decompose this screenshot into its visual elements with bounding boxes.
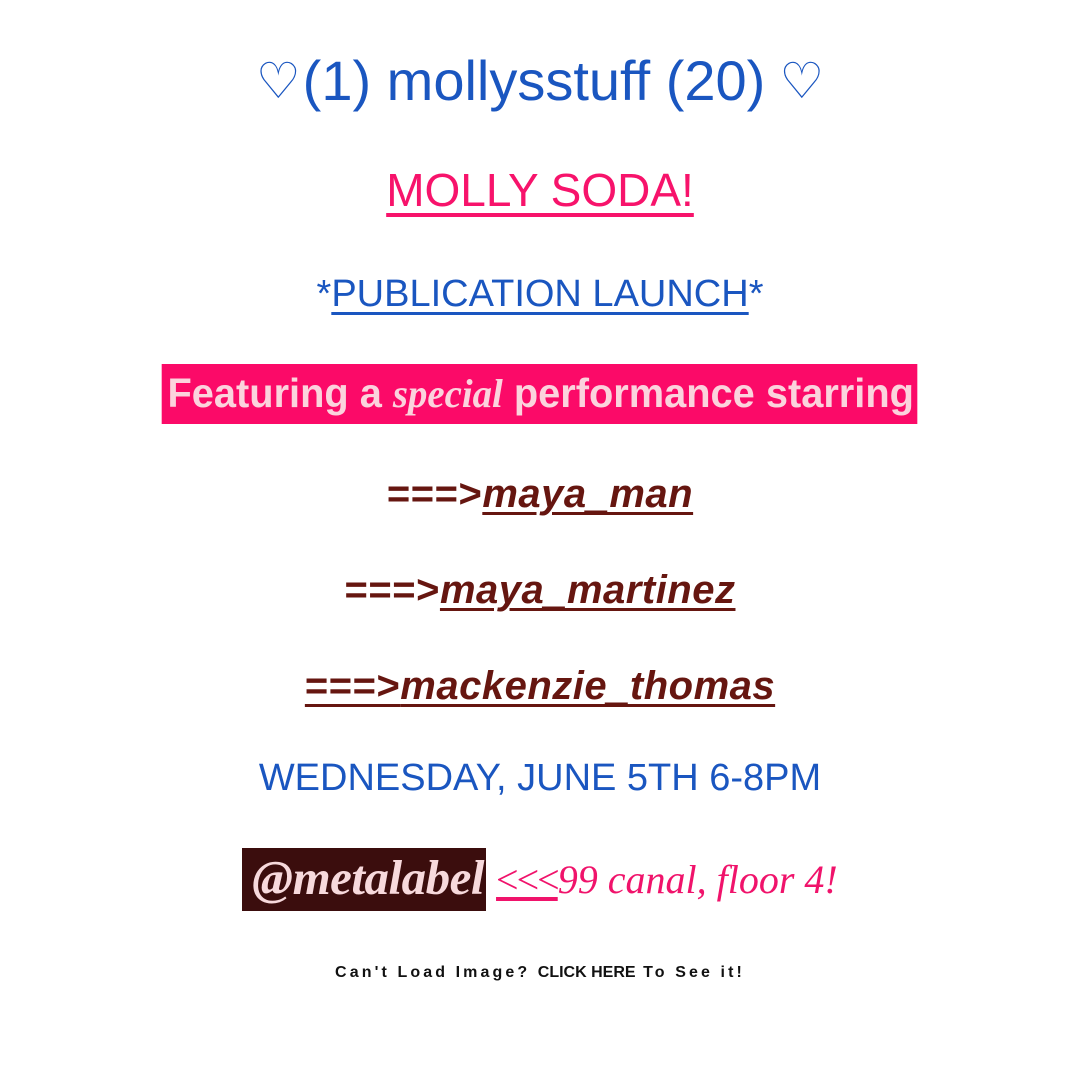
performer-row: ===>mackenzie_thomas — [305, 664, 775, 709]
image-fallback-caption: Can't Load Image? CLICK HERE To See it! — [335, 964, 745, 982]
fallback-text-part3: To See it! — [636, 964, 745, 981]
page-title-text: (1) mollysstuff (20) — [303, 49, 766, 112]
fallback-click-here-link[interactable]: CLICK HERE — [538, 964, 636, 981]
venue-host-badge[interactable]: @metalabel — [242, 848, 486, 911]
subheadline: *PUBLICATION LAUNCH* — [317, 273, 764, 316]
arrow-glyph: ===> — [387, 472, 482, 516]
venue-row: @metalabel <<<99 canal, floor 4! — [242, 848, 837, 911]
performer-row: ===>maya_martinez — [345, 568, 736, 613]
fallback-text-part1: Can't Load Image? — [335, 964, 538, 981]
asterisk-left: * — [317, 273, 332, 315]
performer-handle[interactable]: maya_man — [482, 472, 693, 516]
venue-address: <<<99 canal, floor 4! — [496, 856, 838, 903]
asterisk-right: * — [749, 273, 764, 315]
heart-outline-icon-right: ♡ — [779, 52, 824, 110]
feature-highlight-bar: Featuring a special performance starring — [162, 364, 918, 424]
event-datetime: WEDNESDAY, JUNE 5TH 6-8PM — [259, 757, 821, 800]
page-title: ♡(1) mollysstuff (20)♡ — [256, 52, 824, 111]
pointer-glyph: <<< — [496, 857, 558, 902]
performer-row: ===>maya_man — [387, 472, 693, 517]
venue-address-text: 99 canal, floor 4! — [558, 857, 838, 902]
performer-handle[interactable]: maya_martinez — [440, 568, 736, 612]
flyer-canvas: ♡(1) mollysstuff (20)♡ MOLLY SODA! *PUBL… — [0, 0, 1080, 1080]
arrow-glyph: ===> — [345, 568, 440, 612]
feature-text-emphasis: special — [393, 371, 503, 416]
arrow-glyph: ===> — [305, 664, 400, 708]
heart-outline-icon-left: ♡ — [256, 52, 301, 110]
performer-handle[interactable]: mackenzie_thomas — [400, 664, 775, 708]
feature-text-part2: performance starring — [503, 370, 914, 416]
subheadline-text: PUBLICATION LAUNCH — [331, 273, 748, 315]
feature-text-part1: Featuring a — [168, 370, 393, 416]
headline: MOLLY SODA! — [386, 163, 694, 217]
